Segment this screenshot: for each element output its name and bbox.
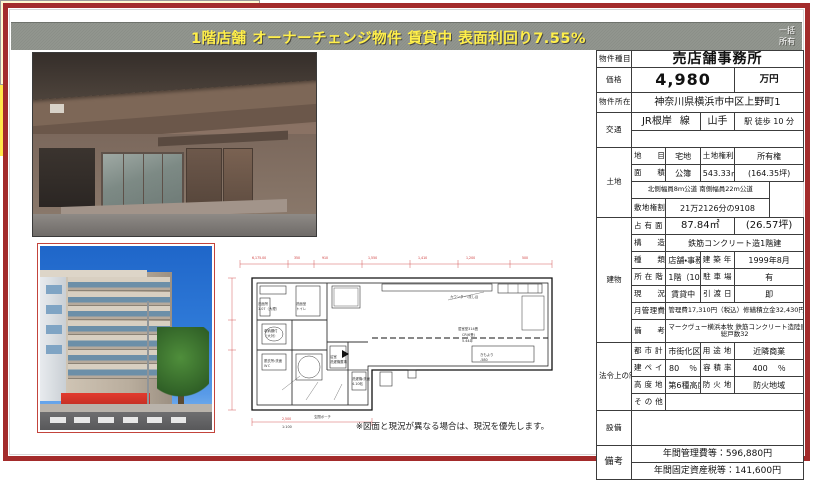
svg-text:きもより: きもより [480,352,494,357]
svg-text:CR(6畳): CR(6畳) [462,332,476,337]
photo-exterior-front [32,52,317,237]
spec-row-senyu: 建物 占 有 面 積 87.84㎡ (26.57坪) [597,218,804,235]
spec-value-senyu-tsubo: (26.57坪) [735,218,804,235]
svg-text:910: 910 [322,256,328,260]
spec-label-sonota: そ の 他 [632,394,666,411]
spec-value-kouzou: 鉄筋コンクリート造1階建 [666,235,804,252]
spec-row-toshi: 法令上の制限 都 市 計 画 市街化区域 用 途 地 域 近隣商業 [597,343,804,360]
spec-label-shurui: 種 類 [632,252,666,269]
spec-value-address: 神奈川県横浜市中区上野町1 [632,93,804,113]
spec-label-land-right: 土地権利 [700,148,734,165]
spec-value-land-road: 北側幅員8m公道 南側幅員22m公道 [632,182,770,199]
spec-value-chikunen: 1999年8月 [735,252,804,269]
spec-row-type: 物件種目 売店舗事務所 [597,51,804,68]
spec-value-equipment [632,411,804,446]
spec-value-bikou-building: マークヴュー横浜本牧 鉄筋コンクリート造陸屋根7階建 総戸数32 [666,320,804,343]
spec-value-transport-station: 山手 [700,113,734,131]
spec-label-remarks: 備考 [597,446,632,480]
headline-text: 1階店舗 オーナーチェンジ物件 賃貸中 表面利回り7.55% [161,27,616,48]
svg-text:1:100: 1:100 [282,425,292,429]
svg-text:浴室: 浴室 [330,354,337,359]
ownership-badge-line2: 所有 [779,36,795,47]
spec-value-kanri: 管理費17,310円（税込）修繕積立金32,430円（税込） [666,303,804,320]
svg-text:4.10帖: 4.10帖 [352,381,364,386]
svg-text:1,200: 1,200 [466,256,475,260]
spec-label-building-group: 建物 [597,218,632,343]
spec-label-bouka: 防 火 地 域 [700,377,734,394]
svg-text:洗面所: 洗面所 [258,301,269,306]
svg-text:6,175.00: 6,175.00 [252,256,266,260]
spec-label-address: 物件所在地 [597,93,632,113]
spec-value-transport-walk: 駅 徒歩 10 分 [735,113,804,131]
ownership-badge-line1: 一括 [779,25,795,36]
spec-value-sonota [666,394,804,411]
spec-label-kanri: 月管理費等 [632,303,666,320]
spec-row-address: 物件所在地 神奈川県横浜市中区上野町1 [597,93,804,113]
svg-text:2,500: 2,500 [282,417,291,421]
property-flyer-page: 1階店舗 オーナーチェンジ物件 賃貸中 表面利回り7.55% 一括 所有 [0,0,813,464]
spec-value-chusha: 有 [735,269,804,286]
spec-value-land-tsubo: (164.35坪) [735,165,804,182]
spec-label-shozai: 所 在 階 [632,269,666,286]
spec-row-equipment: 設備 [597,411,804,446]
spec-value-remarks-1: 年間管理費等：596,880円 [632,446,804,463]
spec-label-price: 価格 [597,68,632,93]
svg-text:-580: -580 [480,358,488,362]
spec-label-toshi: 都 市 計 画 [632,343,666,360]
svg-text:洗濯機・洗面: 洗濯機・洗面 [352,376,371,381]
spec-value-kenpei: 80％ [666,360,700,377]
spec-label-hikiwatashi: 引 渡 日 [700,286,734,303]
spec-value-senyu: 87.84㎡ [666,218,735,235]
svg-text:ＷＣ: ＷＣ [264,364,271,368]
spec-label-kenpei: 建 ペ イ 率 [632,360,666,377]
svg-text:350: 350 [294,256,300,260]
spec-value-land-right: 所有権 [735,148,804,165]
svg-text:トイレ: トイレ [296,307,307,311]
spec-value-shozai: 1階（103） [666,269,700,286]
spec-label-yoseki: 容 積 率 [700,360,734,377]
svg-text:500: 500 [522,256,528,260]
spec-label-shikichiken: 敷地権割合 [632,199,666,218]
svg-text:洗面室: 洗面室 [296,301,307,306]
spec-label-kouzou: 構 造 [632,235,666,252]
svg-text:玄関ポーチ: 玄関ポーチ [314,414,332,419]
svg-text:脱衣所・洗面: 脱衣所・洗面 [264,358,283,363]
bikou-line2: 総戸数32 [668,331,801,338]
floor-plan-disclaimer: ※図面と現況が異なる場合は、現況を優先します。 [340,420,565,432]
spec-value-genkyo: 賃貸中 [666,286,700,303]
spec-value-hikiwatashi: 即 [735,286,804,303]
spec-value-type: 売店舗事務所 [632,51,804,68]
spec-value-price: 4,980 [632,68,735,93]
spec-value-shurui: 店舗・事務所 [666,252,700,269]
spec-value-toshi: 市街化区域 [666,343,700,360]
photo-building-street [37,243,215,433]
spec-value-transport-line: JR根岸線 [632,113,701,131]
floor-plan-drawing: 洗面所 1.07（大理） 洗面室 トイレ 収納棚付 （大対） 脱衣所・洗面 ＷＣ… [222,250,570,435]
spec-label-transport: 交通 [597,113,632,148]
spec-value-remarks-2: 年間固定資産税等：141,600円 [632,463,804,480]
svg-text:居室型314畳: 居室型314畳 [458,326,479,331]
spec-value-koudo: 第6種高度 [666,377,700,394]
spec-row-price: 価格 4,980 万円 [597,68,804,93]
spec-label-land-group: 土地 [597,148,632,218]
spec-value-bouka: 防火地域 [735,377,804,394]
svg-text:1,550: 1,550 [368,256,377,260]
spec-value-land-area-kind: 公簿 [666,165,700,182]
spec-label-legal-group: 法令上の制限 [597,343,632,411]
spec-row-remarks-1: 備考 年間管理費等：596,880円 [597,446,804,463]
spec-label-bikou-building: 備 考 [632,320,666,343]
spec-value-yoseki: 400％ [735,360,804,377]
spec-row-land-chimoku: 土地 地 目 宅地 土地権利 所有権 [597,148,804,165]
spec-value-land-area: 543.33㎡ [700,165,734,182]
spec-label-equipment: 設備 [597,411,632,446]
spec-label-type: 物件種目 [597,51,632,68]
spec-value-chimoku: 宅地 [666,148,700,165]
spec-unit-price: 万円 [735,68,804,93]
spec-label-chusha: 駐 車 場 [700,269,734,286]
property-spec-table: 物件種目 売店舗事務所 価格 4,980 万円 物件所在地 神奈川県横浜市中区上… [596,50,804,447]
spec-label-senyu: 占 有 面 積 [632,218,666,235]
spec-label-youto: 用 途 地 域 [700,343,734,360]
title-bar: 1階店舗 オーナーチェンジ物件 賃貸中 表面利回り7.55% 一括 所有 [11,22,802,50]
ownership-badge: 一括 所有 [779,25,795,47]
svg-text:洗濯機置場: 洗濯機置場 [330,359,348,364]
spec-label-chimoku: 地 目 [632,148,666,165]
svg-text:カウンター・流し台: カウンター・流し台 [450,294,479,299]
svg-text:（大対）: （大対） [264,333,278,338]
svg-text:1.07（大理）: 1.07（大理） [258,306,279,311]
spec-row-transport: 交通 JR根岸線 山手 駅 徒歩 10 分 [597,113,804,131]
spec-label-koudo: 高 度 地 区 [632,377,666,394]
svg-text:5.44坪: 5.44坪 [462,338,474,343]
svg-text:1,410: 1,410 [418,256,427,260]
spec-label-chikunen: 建 築 年 月 [700,252,734,269]
spec-value-transport-2 [632,131,804,148]
spec-label-genkyo: 現 況 [632,286,666,303]
spec-label-land-area: 面 積 [632,165,666,182]
spec-value-youto: 近隣商業 [735,343,804,360]
spec-value-shikichiken: 21万2126分の9108 [666,199,769,218]
svg-text:収納棚付: 収納棚付 [264,328,278,333]
